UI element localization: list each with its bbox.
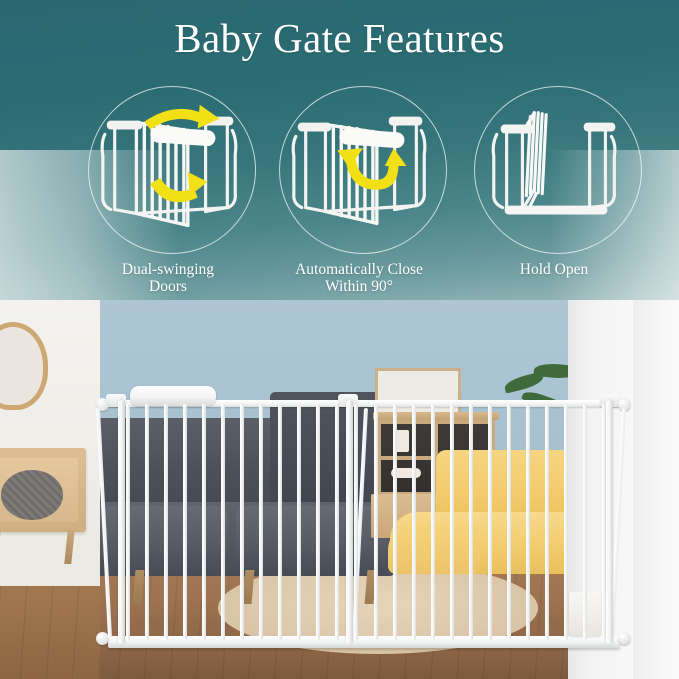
console-round-pattern-detail <box>1 470 63 520</box>
gate-vertical-bar <box>335 404 339 640</box>
gate-vertical-bar <box>145 404 149 640</box>
baby-gate-product <box>100 386 633 660</box>
gate-vertical-bar <box>164 404 168 640</box>
far-right-wall <box>633 300 679 679</box>
gate-vertical-bar <box>221 404 225 640</box>
gate-post <box>118 400 125 644</box>
left-room-scene <box>0 300 100 679</box>
swing-arrow-top <box>144 105 219 130</box>
gate-vertical-bar <box>488 404 492 640</box>
gate-vertical-bar <box>297 404 301 640</box>
gate-vertical-bar <box>469 404 473 640</box>
gate-vertical-bar <box>374 404 378 640</box>
feature-caption-line2: Doors <box>62 279 274 296</box>
feature-dual-swinging-doors[interactable]: Dual-swinging Doors <box>62 84 274 304</box>
feature-caption-line2: Within 90° <box>253 279 465 296</box>
feature-automatically-close[interactable]: Automatically Close Within 90° <box>253 84 465 304</box>
gate-vertical-bar <box>564 404 568 640</box>
gate-vertical-bar <box>316 404 320 640</box>
gate-vertical-bar <box>126 404 130 640</box>
gate-vertical-bar <box>431 404 435 640</box>
gate-dual-swing-icon <box>89 87 255 253</box>
gate-post <box>346 400 353 644</box>
feature-caption: Hold Open <box>448 262 660 279</box>
wooden-console-cabinet <box>0 448 86 532</box>
gate-vertical-bar <box>183 404 187 640</box>
gate-vertical-bar <box>545 404 549 640</box>
gate-hold-open-icon <box>475 87 641 253</box>
feature-circle-outline <box>88 86 256 254</box>
gate-vertical-bar <box>240 404 244 640</box>
gate-vertical-bar <box>202 404 206 640</box>
feature-caption: Dual-swinging Doors <box>62 262 274 295</box>
gate-auto-close-icon <box>280 87 446 253</box>
gate-vertical-bar <box>583 404 587 640</box>
feature-caption: Automatically Close Within 90° <box>253 262 465 295</box>
gate-vertical-bar <box>393 404 397 640</box>
gate-wall-cup <box>618 632 631 645</box>
page-title: Baby Gate Features <box>0 14 679 62</box>
gate-vertical-bar <box>507 404 511 640</box>
gate-vertical-bar <box>602 404 606 640</box>
feature-circle-outline <box>279 86 447 254</box>
gate-vertical-bar <box>259 404 263 640</box>
product-feature-infographic: Baby Gate Features <box>0 0 679 679</box>
gate-vertical-bar <box>278 404 282 640</box>
feature-caption-line1: Hold Open <box>520 261 588 278</box>
gate-vertical-bar <box>354 404 358 640</box>
gate-post <box>606 400 613 644</box>
left-wood-floor <box>0 586 100 679</box>
feature-circle-outline <box>474 86 642 254</box>
feature-hold-open[interactable]: Hold Open <box>448 84 660 304</box>
feature-list: Dual-swinging Doors <box>0 84 679 304</box>
feature-caption-line1: Dual-swinging <box>122 261 214 278</box>
feature-caption-line1: Automatically Close <box>295 261 423 278</box>
gate-vertical-bar <box>412 404 416 640</box>
gate-vertical-bar <box>526 404 530 640</box>
gate-handle-latch[interactable] <box>130 386 216 406</box>
gate-vertical-bar <box>450 404 454 640</box>
